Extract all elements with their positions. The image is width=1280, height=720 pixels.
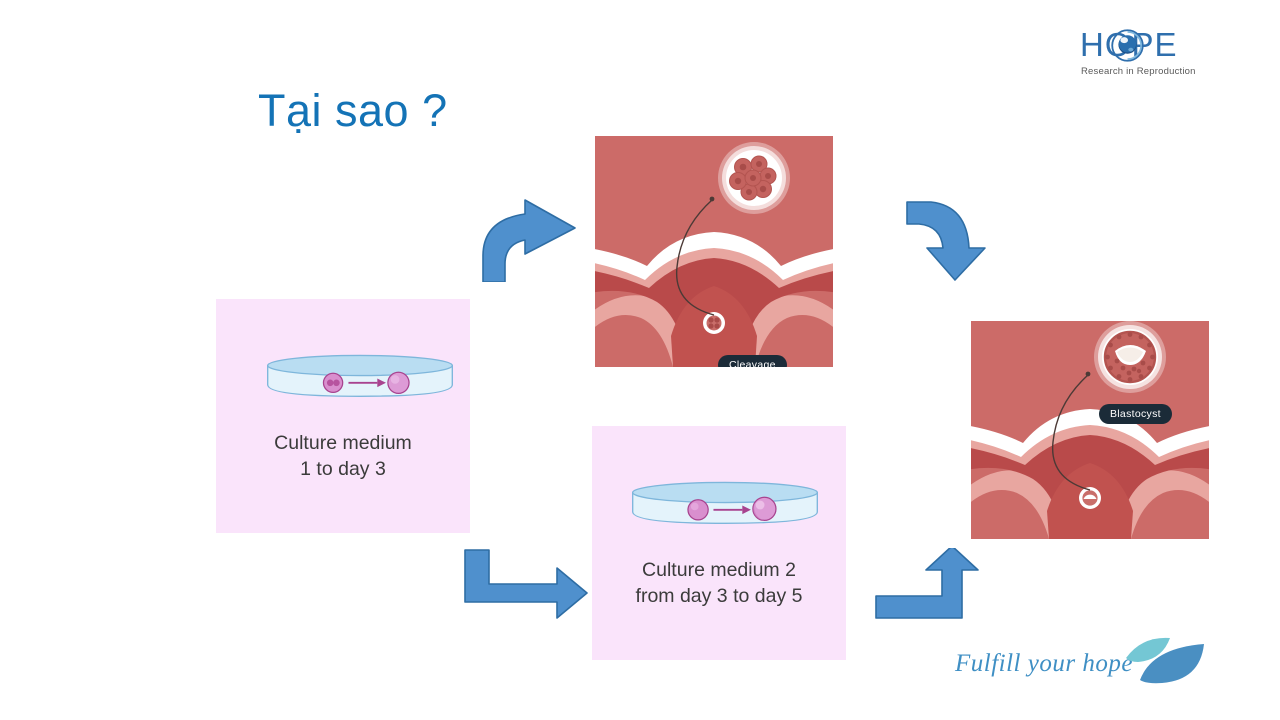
embryo-marker-in-cavity [703, 312, 725, 334]
two-leaf-icon [1118, 630, 1210, 688]
elbow-arrow-right-up-icon [874, 548, 994, 620]
uterus-icon [971, 321, 1209, 539]
card-culture-medium-1: Culture medium 1 to day 3 [216, 299, 470, 533]
card-caption: Culture medium 1 to day 3 [216, 430, 470, 482]
status-badge-cleavage: Cleavage [718, 355, 787, 367]
eye-iris-icon [1111, 29, 1144, 62]
cleavage-stage-embryo [718, 142, 790, 214]
uterus-icon [595, 136, 833, 367]
petri-dish-cell-left [688, 500, 708, 520]
petri-dish-cell-left [323, 373, 342, 392]
petri-dish-icon [263, 353, 457, 403]
slide-canvas: HOPE Research in Reproduction Tại sao ? [0, 0, 1280, 720]
footer-tagline: Fulfill your hope [955, 650, 1133, 678]
page-title: Tại sao ? [258, 85, 448, 137]
illustration-uterus-blastocyst [971, 321, 1209, 539]
illustration-uterus-cleavage: Cleavage [595, 136, 833, 367]
curved-arrow-up-right-icon [479, 198, 579, 282]
petri-dish-cell-right [388, 372, 409, 393]
curved-arrow-down-icon [905, 200, 989, 282]
elbow-arrow-down-right-icon [461, 548, 589, 620]
status-badge-blastocyst: Blastocyst [1099, 404, 1172, 424]
card-caption: Culture medium 2 from day 3 to day 5 [592, 557, 846, 609]
hope-logo: HOPE Research in Reproduction [1080, 26, 1204, 82]
blastocyst [1094, 321, 1166, 393]
embryo-marker-in-cavity [1079, 487, 1101, 509]
petri-dish-icon [628, 480, 822, 530]
card-culture-medium-2: Culture medium 2 from day 3 to day 5 [592, 426, 846, 660]
hope-logo-tagline: Research in Reproduction [1081, 66, 1205, 77]
petri-dish-cell-right [753, 497, 776, 520]
